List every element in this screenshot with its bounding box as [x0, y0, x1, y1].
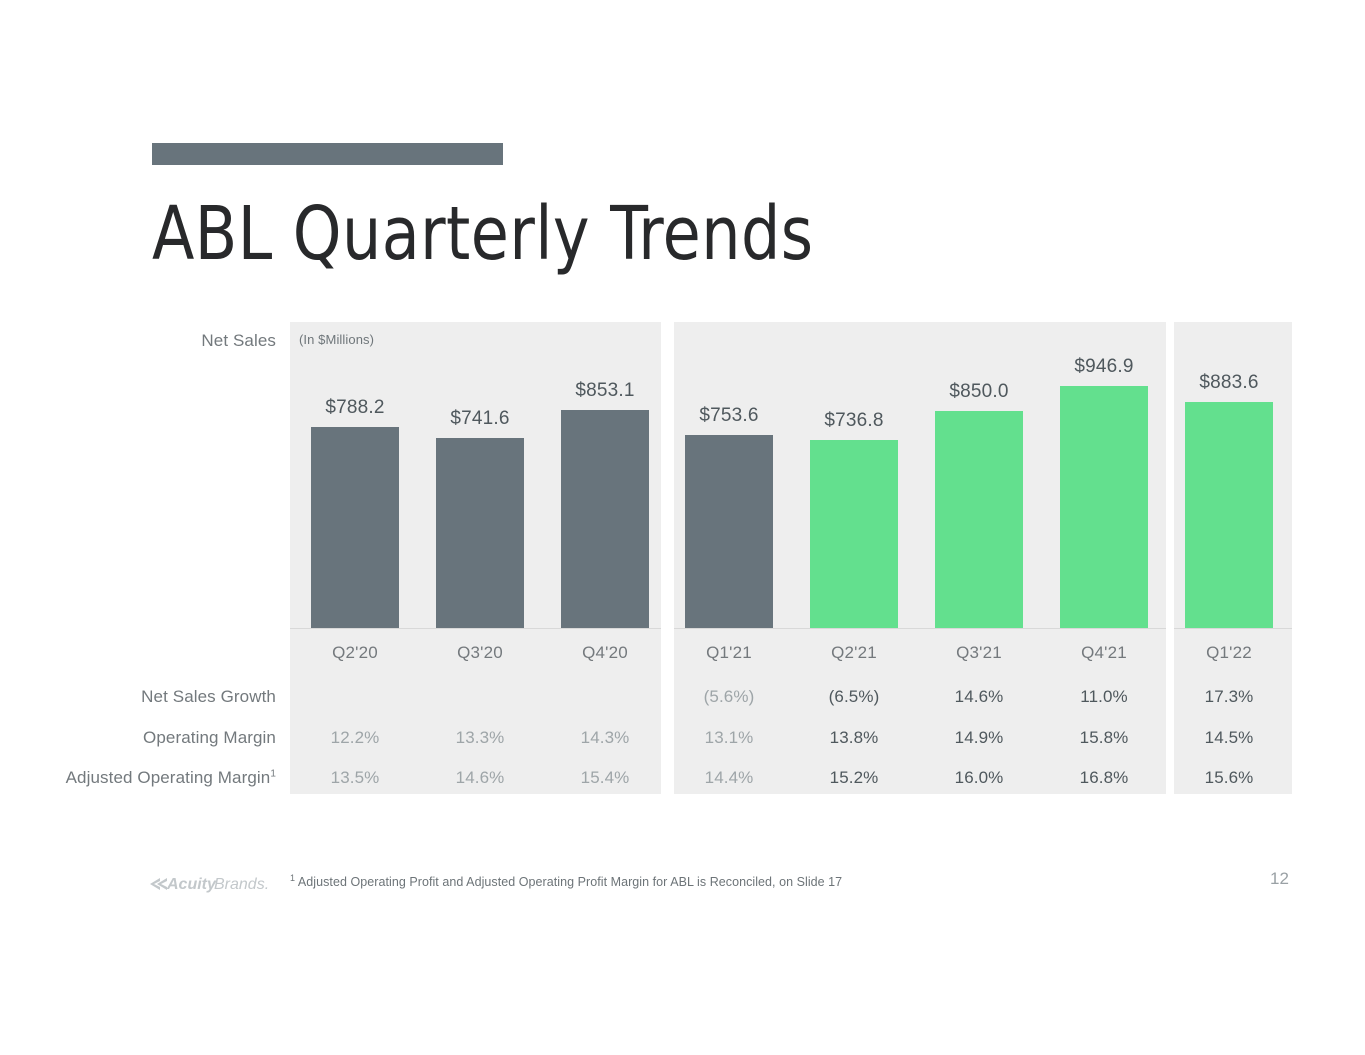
table-cell: 15.6%	[1205, 768, 1254, 788]
table-cell: 15.4%	[581, 768, 630, 788]
footnote-superscript: 1	[290, 873, 295, 883]
axis-baseline-panel-1	[290, 628, 661, 629]
row-label-net-sales-growth: Net Sales Growth	[141, 687, 276, 707]
svg-text:Brands.: Brands.	[214, 876, 269, 893]
category-label: Q2'20	[332, 643, 378, 663]
row-label-adjusted-operating-margin: Adjusted Operating Margin1	[66, 768, 276, 788]
table-cell: 14.5%	[1205, 728, 1254, 748]
category-label: Q3'20	[457, 643, 503, 663]
bar-value-label: $946.9	[1074, 356, 1133, 378]
table-cell: 12.2%	[331, 728, 380, 748]
table-cell: 13.5%	[331, 768, 380, 788]
bar	[1185, 402, 1273, 628]
bar	[810, 440, 898, 628]
bar-value-label: $753.6	[699, 405, 758, 427]
table-cell: 13.8%	[830, 728, 879, 748]
bar	[561, 410, 649, 628]
units-caption: (In $Millions)	[299, 332, 374, 347]
table-cell: 14.3%	[581, 728, 630, 748]
acuity-brands-logo: Acuity Brands.	[148, 872, 284, 894]
axis-baseline-panel-2	[674, 628, 1166, 629]
category-label: Q3'21	[956, 643, 1002, 663]
page-number: 12	[1270, 869, 1289, 889]
category-label: Q4'21	[1081, 643, 1127, 663]
table-cell: 13.3%	[456, 728, 505, 748]
axis-baseline-panel-3	[1174, 628, 1292, 629]
bar	[685, 435, 773, 628]
footnote-marker: 1	[270, 768, 276, 779]
quarterly-trends-chart: (In $Millions) Net Sales Net Sales Growt…	[0, 0, 1365, 1055]
bar	[311, 427, 399, 628]
table-cell: 16.8%	[1080, 768, 1129, 788]
footnote-text: 1 Adjusted Operating Profit and Adjusted…	[290, 875, 842, 889]
category-label: Q1'21	[706, 643, 752, 663]
table-cell: 15.8%	[1080, 728, 1129, 748]
table-cell: 11.0%	[1080, 687, 1127, 707]
bar	[935, 411, 1023, 628]
table-cell: 14.9%	[955, 728, 1004, 748]
category-label: Q1'22	[1206, 643, 1252, 663]
table-cell: (5.6%)	[704, 687, 755, 707]
row-label-adjusted-operating-margin-text: Adjusted Operating Margin	[66, 768, 271, 787]
bar-value-label: $788.2	[325, 397, 384, 419]
table-cell: 15.2%	[830, 768, 879, 788]
table-cell: 14.4%	[705, 768, 754, 788]
bar-value-label: $736.8	[824, 410, 883, 432]
bar-value-label: $850.0	[949, 381, 1008, 403]
category-label: Q4'20	[582, 643, 628, 663]
bar-value-label: $741.6	[450, 408, 509, 430]
row-label-operating-margin: Operating Margin	[143, 728, 276, 748]
table-cell: 14.6%	[456, 768, 505, 788]
table-cell: (6.5%)	[829, 687, 880, 707]
bar-value-label: $853.1	[575, 380, 634, 402]
table-cell: 14.6%	[955, 687, 1004, 707]
table-cell: 16.0%	[955, 768, 1004, 788]
bar-value-label: $883.6	[1199, 372, 1258, 394]
table-cell: 13.1%	[705, 728, 754, 748]
svg-text:Acuity: Acuity	[166, 876, 217, 893]
category-label: Q2'21	[831, 643, 877, 663]
bar	[436, 438, 524, 628]
bar	[1060, 386, 1148, 628]
footnote-body: Adjusted Operating Profit and Adjusted O…	[298, 875, 842, 889]
table-cell: 17.3%	[1205, 687, 1254, 707]
row-label-net-sales: Net Sales	[201, 331, 276, 351]
